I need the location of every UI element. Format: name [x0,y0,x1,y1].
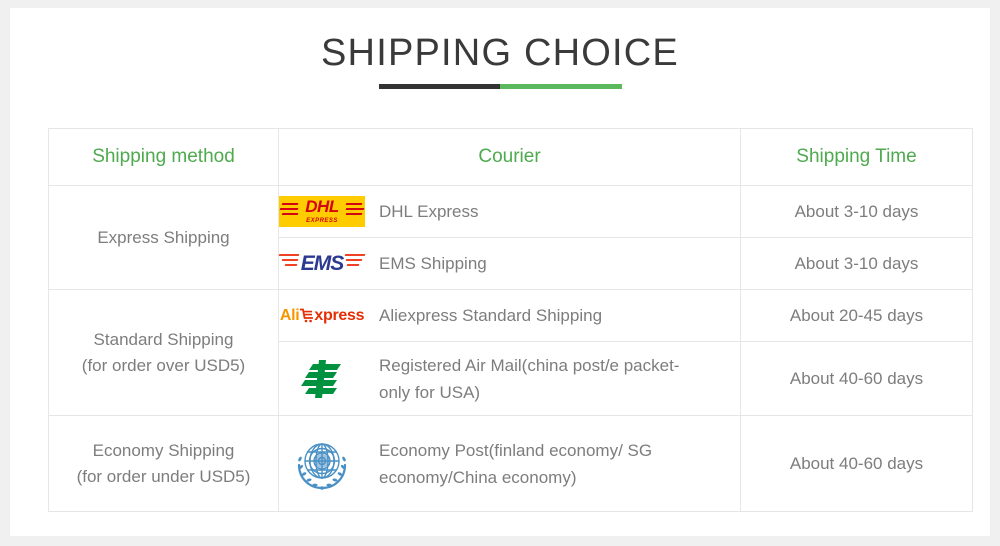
method-note: (for order over USD5) [49,353,278,379]
shipping-table-wrapper: Shipping method Courier Shipping Time Ex… [48,128,972,512]
courier-name: DHL Express [379,198,479,225]
column-header-courier: Courier [279,129,741,186]
courier-name: Economy Post(finland economy/ SG economy… [379,437,709,491]
table-header-row: Shipping method Courier Shipping Time [49,129,973,186]
method-name: Economy Shipping [49,438,278,464]
shopping-cart-icon [300,308,313,323]
courier-cell-china-post: Registered Air Mail(china post/e packet-… [279,342,741,416]
dhl-logo: DHL EXPRESS [279,196,365,227]
column-header-shipping-time: Shipping Time [741,129,973,186]
title-underline [379,84,622,89]
shipping-time-cell: About 40-60 days [741,342,973,416]
page-title: SHIPPING CHOICE [10,30,990,76]
courier-name: Registered Air Mail(china post/e packet-… [379,352,709,406]
shipping-time-cell: About 20-45 days [741,290,973,342]
courier-cell-ems: EMS EMS Shipping [279,238,741,290]
shipping-table: Shipping method Courier Shipping Time Ex… [48,128,973,512]
shipping-time-cell: About 40-60 days [741,416,973,512]
table-row: Express Shipping [49,186,973,238]
china-post-logo-slot [279,354,365,404]
dhl-logo-word: DHL [279,197,365,216]
aliexpress-logo-part2: xpress [314,306,364,326]
courier-cell-economy-post: Economy Post(finland economy/ SG economy… [279,416,741,512]
dhl-logo-subtext: EXPRESS [279,218,365,225]
ems-logo-slot: EMS [279,249,365,279]
shipping-time-cell: About 3-10 days [741,186,973,238]
title-block: SHIPPING CHOICE [10,8,990,89]
united-nations-logo-slot [279,433,365,495]
title-underline-accent [500,84,622,89]
aliexpress-logo: Ali xpress [279,304,365,328]
aliexpress-logo-slot: Ali xpress [279,304,365,328]
title-underline-dark [379,84,501,89]
method-name: Express Shipping [49,225,278,251]
courier-cell-aliexpress: Ali xpress [279,290,741,342]
dhl-logo-slot: DHL EXPRESS [279,196,365,227]
method-cell-economy: Economy Shipping (for order under USD5) [49,416,279,512]
shipping-time-cell: About 3-10 days [741,238,973,290]
united-nations-logo [291,433,353,495]
china-post-logo [296,354,348,404]
aliexpress-logo-part1: Ali [280,306,300,326]
column-header-shipping-method: Shipping method [49,129,279,186]
method-name: Standard Shipping [49,327,278,353]
table-header: Shipping method Courier Shipping Time [49,129,973,186]
method-cell-standard: Standard Shipping (for order over USD5) [49,290,279,416]
method-note: (for order under USD5) [49,464,278,490]
courier-name: EMS Shipping [379,250,487,277]
ems-logo-word: EMS [279,253,365,275]
table-row: Economy Shipping (for order under USD5) [49,416,973,512]
table-body: Express Shipping [49,186,973,512]
ems-logo: EMS [279,249,365,279]
courier-cell-dhl: DHL EXPRESS DHL Express [279,186,741,238]
shipping-info-card: SHIPPING CHOICE Shipping method Courier … [10,8,990,536]
courier-name: Aliexpress Standard Shipping [379,302,602,329]
method-cell-express: Express Shipping [49,186,279,290]
table-row: Standard Shipping (for order over USD5) … [49,290,973,342]
